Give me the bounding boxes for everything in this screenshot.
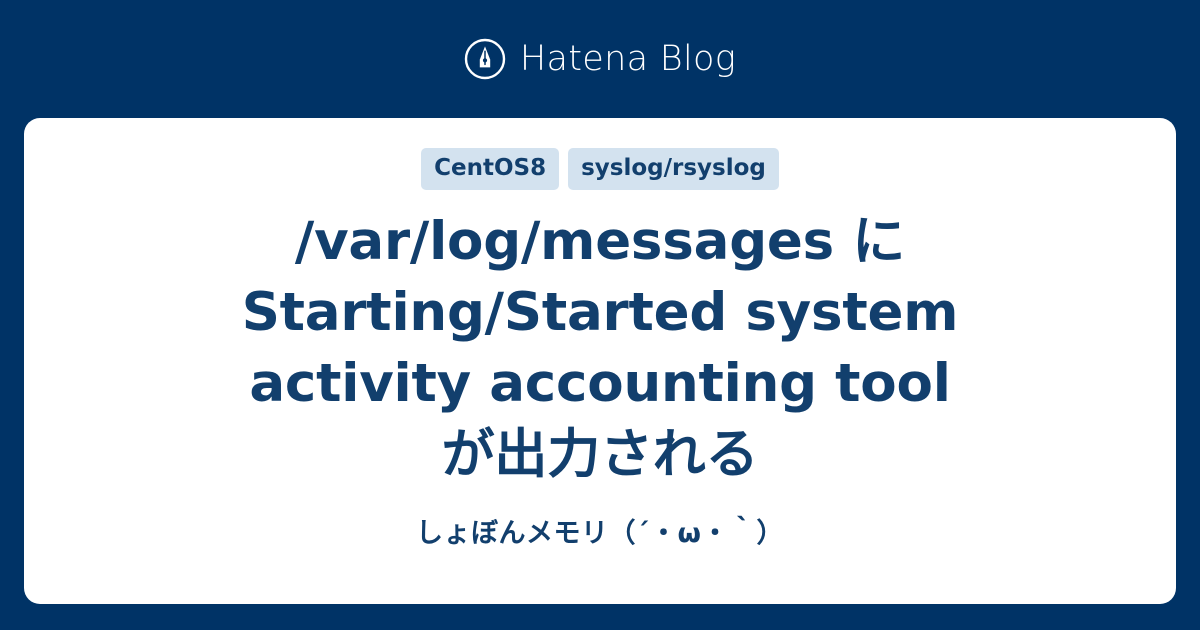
blog-name[interactable]: しょぼんメモリ（´・ω・｀） [416, 516, 784, 551]
tag-list: CentOS8 syslog/rsyslog [421, 148, 779, 190]
og-image-canvas: Hatena Blog CentOS8 syslog/rsyslog /var/… [0, 0, 1200, 630]
tag-syslog-rsyslog[interactable]: syslog/rsyslog [568, 148, 779, 190]
brand-header[interactable]: Hatena Blog [0, 0, 1200, 118]
entry-card: CentOS8 syslog/rsyslog /var/log/messages… [24, 118, 1176, 604]
brand-name: Hatena Blog [520, 42, 736, 77]
fountain-pen-nib-in-circle-icon [464, 38, 506, 80]
entry-title: /var/log/messages に Starting/Started sys… [230, 206, 970, 490]
tag-centos8[interactable]: CentOS8 [421, 148, 559, 190]
